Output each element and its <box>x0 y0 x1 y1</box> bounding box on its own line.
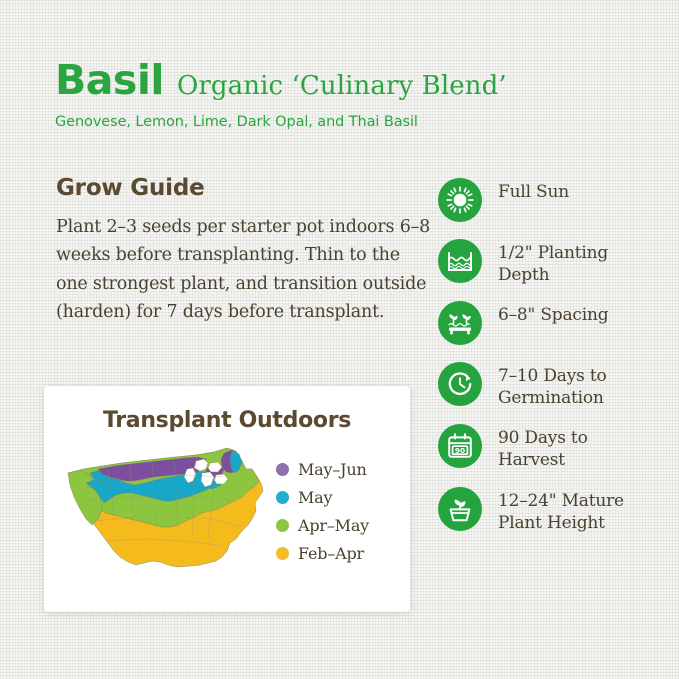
planting-depth-icon <box>445 246 475 276</box>
legend-color-swatch <box>276 491 289 504</box>
fact-germination: 7–10 Days to Germination <box>438 362 658 409</box>
map-legend: May–Jun May Apr–May Feb–Apr <box>276 456 369 563</box>
fact-planting-depth: 1/2" Planting Depth <box>438 239 658 286</box>
fact-full-sun: Full Sun <box>438 178 658 224</box>
fact-label: 1/2" Planting Depth <box>498 239 658 286</box>
fact-label: 6–8" Spacing <box>498 301 608 326</box>
potted-plant-icon <box>445 494 475 524</box>
legend-item: Feb–Apr <box>276 544 369 563</box>
grow-guide-heading: Grow Guide <box>56 175 431 201</box>
legend-label: May <box>298 488 332 507</box>
spacing-icon <box>445 308 475 338</box>
calendar-icon: 90 <box>445 431 475 461</box>
fact-days-to-harvest: 90 90 Days to Harvest <box>438 424 658 471</box>
calendar-badge-number: 90 <box>455 446 465 455</box>
fact-badge <box>438 362 482 406</box>
legend-label: Feb–Apr <box>298 544 364 563</box>
page-title: Basil <box>55 60 164 101</box>
usa-zone-map <box>56 439 268 579</box>
legend-label: Apr–May <box>298 516 369 535</box>
grow-guide-section: Grow Guide Plant 2–3 seeds per starter p… <box>56 175 431 326</box>
fact-spacing: 6–8" Spacing <box>438 301 658 347</box>
legend-label: May–Jun <box>298 460 367 479</box>
clock-icon <box>445 369 475 399</box>
legend-color-swatch <box>276 463 289 476</box>
legend-item: May–Jun <box>276 460 369 479</box>
fact-badge <box>438 239 482 283</box>
legend-item: Apr–May <box>276 516 369 535</box>
legend-color-swatch <box>276 547 289 560</box>
fact-label: Full Sun <box>498 178 569 203</box>
title-line: Basil Organic ‘Culinary Blend’ <box>55 60 635 101</box>
grow-guide-body: Plant 2–3 seeds per starter pot indoors … <box>56 213 431 326</box>
fact-mature-height: 12–24" Mature Plant Height <box>438 487 658 534</box>
map-card-title: Transplant Outdoors <box>44 408 410 433</box>
legend-item: May <box>276 488 369 507</box>
fact-badge <box>438 301 482 345</box>
fact-label: 12–24" Mature Plant Height <box>498 487 658 534</box>
fact-badge: 90 <box>438 424 482 468</box>
fact-label: 7–10 Days to Germination <box>498 362 658 409</box>
sun-icon <box>445 185 475 215</box>
fact-badge <box>438 487 482 531</box>
map-and-legend-row: May–Jun May Apr–May Feb–Apr <box>44 439 410 579</box>
fact-badge <box>438 178 482 222</box>
page-subtitle: Organic ‘Culinary Blend’ <box>177 73 507 99</box>
legend-color-swatch <box>276 519 289 532</box>
packet-header: Basil Organic ‘Culinary Blend’ Genovese,… <box>55 60 635 130</box>
transplant-outdoors-card: Transplant Outdoors <box>44 386 410 612</box>
usa-map-svg <box>56 439 268 579</box>
growing-facts-list: Full Sun 1/2" Planting Depth <box>438 178 658 549</box>
fact-label: 90 Days to Harvest <box>498 424 658 471</box>
variety-list: Genovese, Lemon, Lime, Dark Opal, and Th… <box>55 114 635 130</box>
